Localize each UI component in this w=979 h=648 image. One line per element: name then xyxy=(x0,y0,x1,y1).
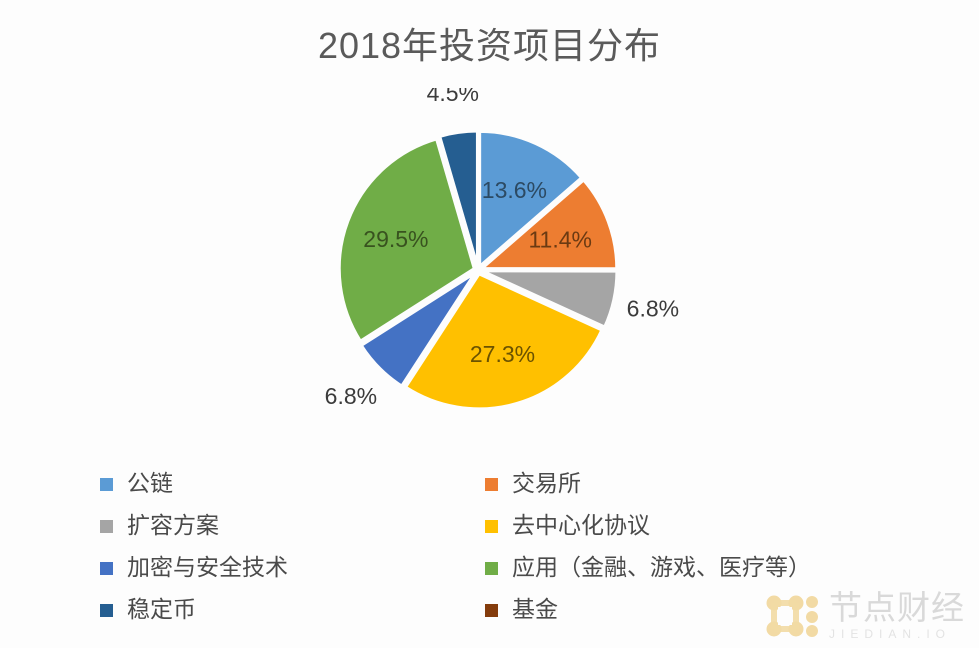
legend-swatch-icon xyxy=(485,478,498,491)
legend-label: 扩容方案 xyxy=(127,512,219,538)
pie-chart-svg: 13.6%11.4%6.8%27.3%6.8%29.5%4.5% xyxy=(255,88,725,428)
legend-item[interactable]: 基金 xyxy=(485,588,870,630)
pie-slice-label: 27.3% xyxy=(470,341,535,367)
legend-item[interactable]: 扩容方案 xyxy=(100,504,485,546)
pie-slice-label: 11.4% xyxy=(528,226,592,252)
legend-label: 交易所 xyxy=(512,470,581,496)
legend-swatch-icon xyxy=(100,562,113,575)
pie-slice-label: 13.6% xyxy=(482,177,547,203)
legend-swatch-icon xyxy=(100,478,113,491)
legend-item[interactable]: 加密与安全技术 xyxy=(100,546,485,588)
legend-item[interactable]: 应用（金融、游戏、医疗等） xyxy=(485,546,870,588)
legend-item[interactable]: 公链 xyxy=(100,462,485,504)
pie-slice-label: 29.5% xyxy=(363,226,428,252)
legend-item[interactable]: 去中心化协议 xyxy=(485,504,870,546)
legend-label: 应用（金融、游戏、医疗等） xyxy=(512,554,811,580)
pie-slice-label: 6.8% xyxy=(627,295,679,321)
legend-label: 稳定币 xyxy=(127,596,196,622)
legend-swatch-icon xyxy=(485,562,498,575)
chart-legend: 公链交易所扩容方案去中心化协议加密与安全技术应用（金融、游戏、医疗等）稳定币基金 xyxy=(100,462,900,630)
legend-label: 加密与安全技术 xyxy=(127,554,288,580)
chart-title: 2018年投资项目分布 xyxy=(0,22,979,70)
legend-label: 公链 xyxy=(127,470,173,496)
legend-label: 去中心化协议 xyxy=(512,512,650,538)
pie-slice-label: 4.5% xyxy=(427,88,479,106)
pie-chart: 13.6%11.4%6.8%27.3%6.8%29.5%4.5% xyxy=(255,88,725,428)
legend-swatch-icon xyxy=(485,604,498,617)
legend-item[interactable]: 稳定币 xyxy=(100,588,485,630)
legend-label: 基金 xyxy=(512,596,558,622)
legend-swatch-icon xyxy=(485,520,498,533)
legend-swatch-icon xyxy=(100,520,113,533)
legend-swatch-icon xyxy=(100,604,113,617)
legend-item[interactable]: 交易所 xyxy=(485,462,870,504)
pie-slice-label: 6.8% xyxy=(325,383,377,409)
